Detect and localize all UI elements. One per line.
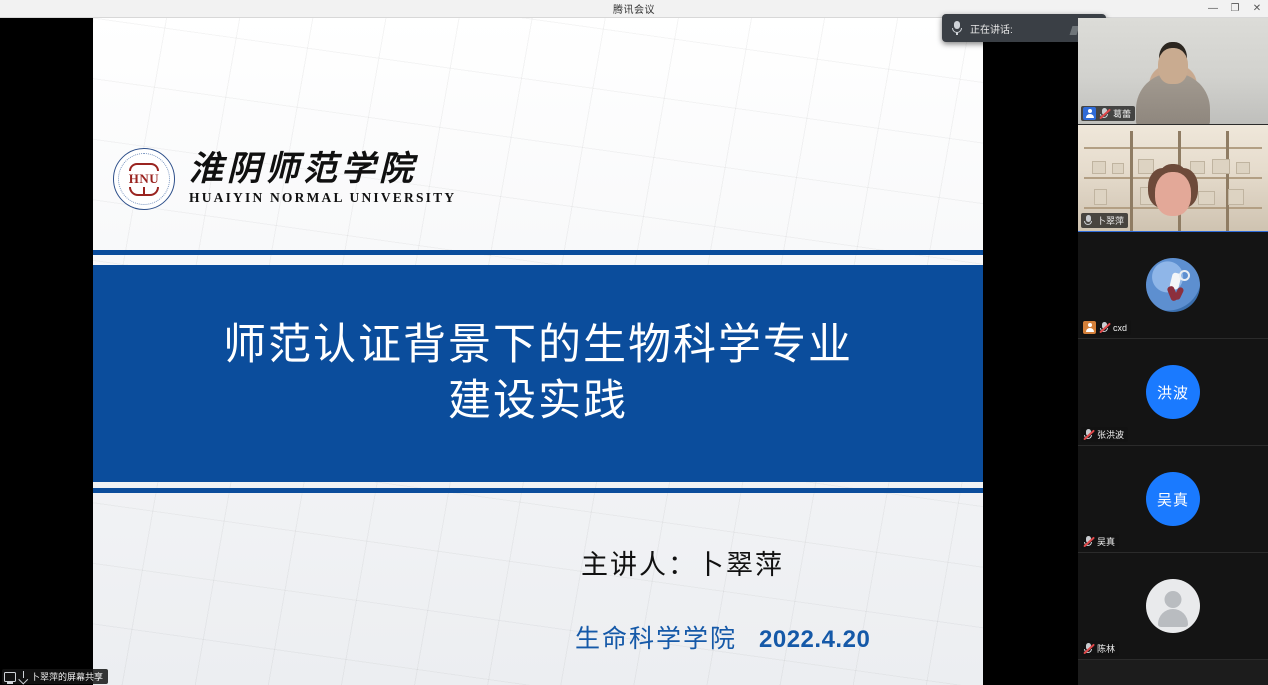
participant-tile[interactable]: cxd [1078, 232, 1268, 339]
university-name-cn: 淮阴师范学院 [189, 152, 456, 188]
minimize-button[interactable]: — [1202, 0, 1224, 18]
shared-screen-stage[interactable]: HNU 淮阴师范学院 HUAIYIN NORMAL UNIVERSITY 师范认… [0, 18, 1078, 685]
participant-name: 吴真 [1097, 535, 1115, 548]
avatar: 洪波 [1146, 365, 1200, 419]
participant-name: 卜翠萍 [1097, 214, 1124, 227]
participant-rail[interactable]: 葛蕾 [1078, 18, 1268, 685]
mic-muted-icon [1099, 321, 1110, 334]
participant-tile[interactable]: 葛蕾 [1078, 18, 1268, 125]
slide-date: 2022.4.20 [759, 626, 870, 654]
avatar: 吴真 [1146, 472, 1200, 526]
avatar [1146, 579, 1200, 633]
stage-left-gutter [0, 18, 93, 685]
slide-title-line2: 建设实践 [448, 374, 628, 429]
screen-share-taskbar: 卜翠萍的屏幕共享 [0, 669, 1078, 685]
microphone-icon [952, 21, 962, 35]
participant-nameplate: 陈林 [1081, 641, 1119, 656]
university-name-en: HUAIYIN NORMAL UNIVERSITY [189, 190, 456, 206]
screen-share-icon [4, 672, 16, 682]
screen-share-label: 卜翠萍的屏幕共享 [31, 670, 103, 683]
seal-letters: HNU [129, 172, 159, 185]
participant-tile[interactable]: 洪波 张洪波 [1078, 339, 1268, 446]
tencent-meeting-window: 腾讯会议 — ❐ ✕ HNU [0, 0, 1268, 685]
window-controls: — ❐ ✕ [1202, 0, 1268, 18]
participant-name: cxd [1113, 323, 1127, 333]
participant-name: 张洪波 [1097, 428, 1124, 441]
slide-header: HNU 淮阴师范学院 HUAIYIN NORMAL UNIVERSITY [93, 18, 983, 250]
host-badge-icon [1083, 107, 1096, 120]
maximize-button[interactable]: ❐ [1224, 0, 1246, 18]
participant-name: 葛蕾 [1113, 107, 1131, 120]
avatar [1146, 258, 1200, 312]
participant-nameplate: 吴真 [1081, 534, 1119, 549]
shared-slide: HNU 淮阴师范学院 HUAIYIN NORMAL UNIVERSITY 师范认… [93, 18, 983, 685]
participant-tile[interactable]: 吴真 吴真 [1078, 446, 1268, 553]
slide-rule-bottom [93, 488, 983, 493]
participant-tile[interactable]: 陈林 [1078, 553, 1268, 660]
app-title: 腾讯会议 [613, 1, 655, 16]
slide-rule-top [93, 250, 983, 255]
screen-share-indicator[interactable]: 卜翠萍的屏幕共享 [2, 669, 108, 684]
speaking-label: 正在讲话: [970, 21, 1013, 36]
mic-muted-icon [1083, 535, 1094, 548]
mic-muted-icon [1083, 642, 1094, 655]
stage-right-gutter [983, 18, 1078, 685]
host-badge-icon [1083, 321, 1096, 334]
participant-nameplate: cxd [1081, 320, 1131, 335]
participant-nameplate: 卜翠萍 [1081, 213, 1128, 228]
participant-name: 陈林 [1097, 642, 1115, 655]
participant-nameplate: 张洪波 [1081, 427, 1128, 442]
hnu-seal-icon: HNU [113, 148, 175, 210]
university-logo: HNU 淮阴师范学院 HUAIYIN NORMAL UNIVERSITY [113, 148, 456, 210]
slide-title-band: 师范认证背景下的生物科学专业 建设实践 [93, 265, 983, 482]
slide-title-line1: 师范认证背景下的生物科学专业 [223, 318, 853, 373]
participant-nameplate: 葛蕾 [1081, 106, 1135, 121]
slide-presenter: 主讲人：卜翠萍 [581, 543, 784, 582]
slide-title: 师范认证背景下的生物科学专业 建设实践 [93, 265, 983, 482]
mic-muted-icon [1099, 107, 1110, 120]
participant-tile[interactable]: 卜翠萍 [1078, 125, 1268, 232]
mic-icon [1083, 214, 1094, 227]
slide-organization: 生命科学学院 [575, 619, 737, 655]
mic-muted-icon [1083, 428, 1094, 441]
close-button[interactable]: ✕ [1246, 0, 1268, 18]
slide-footer: 生命科学学院 2022.4.20 [575, 619, 870, 655]
download-arrow-icon [19, 671, 28, 682]
